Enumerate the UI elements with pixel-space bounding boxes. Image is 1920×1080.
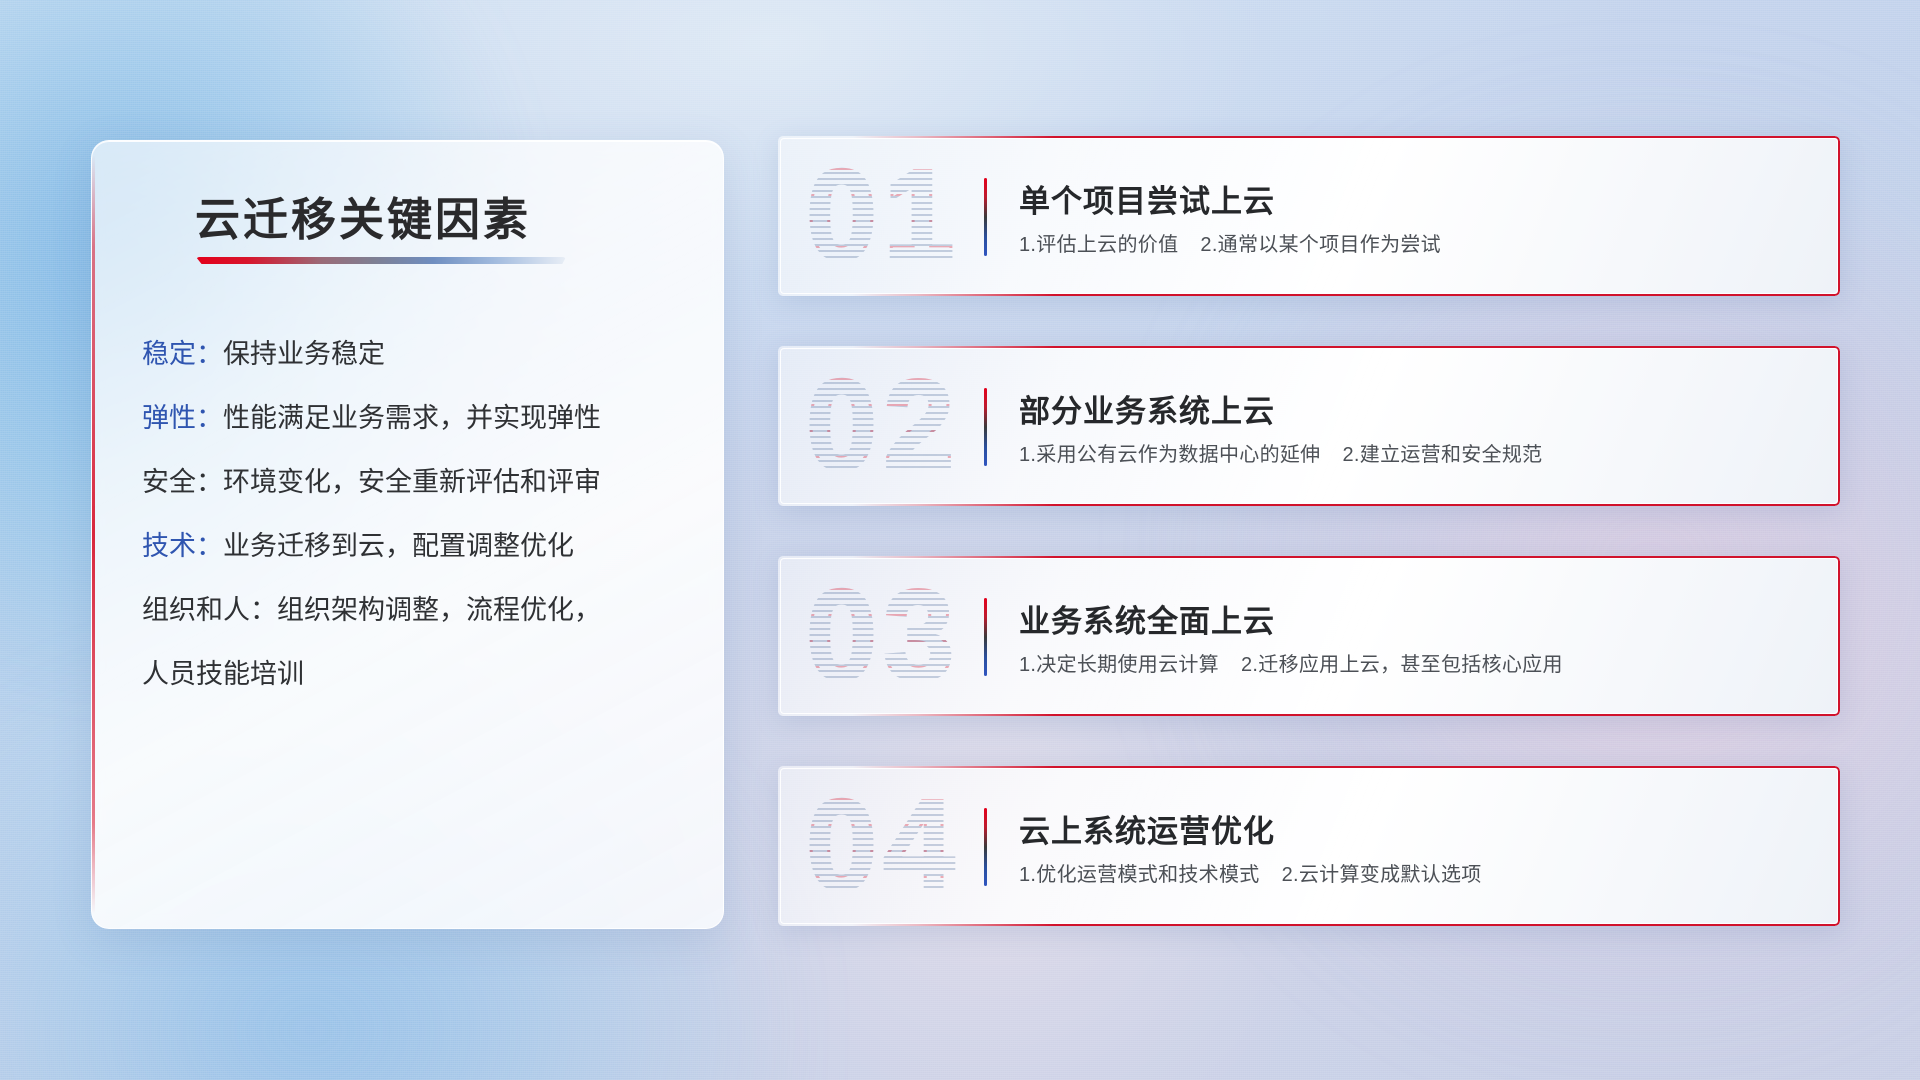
factor-value: 人员技能培训 xyxy=(142,659,304,689)
title-underline-gradient xyxy=(196,257,566,264)
factor-list: 稳定：保持业务稳定 弹性：性能满足业务需求，并实现弹性 安全：环境变化，安全重新… xyxy=(142,341,699,725)
stage-number-watermark-accent: 03 xyxy=(806,556,1036,716)
stage-points: 1.采用公有云作为数据中心的延伸2.建立运营和安全规范 xyxy=(1019,438,1542,467)
stage-points: 1.评估上云的价值2.通常以某个项目作为尝试 xyxy=(1019,228,1441,257)
page-title: 云迁移关键因素 xyxy=(195,183,531,248)
factor-value: 组织架构调整，流程优化， xyxy=(277,595,601,625)
factor-label: 稳定： xyxy=(142,339,223,369)
stage-point-1: 1.采用公有云作为数据中心的延伸 xyxy=(1019,444,1320,466)
stage-accent-bar xyxy=(984,178,987,256)
factor-value: 业务迁移到云，配置调整优化 xyxy=(223,531,574,561)
stage-point-1: 1.评估上云的价值 xyxy=(1019,234,1178,256)
factor-item: 技术：业务迁移到云，配置调整优化 xyxy=(142,533,699,560)
stage-point-2: 2.云计算变成默认选项 xyxy=(1282,864,1482,886)
stage-points: 1.优化运营模式和技术模式2.云计算变成默认选项 xyxy=(1019,858,1482,887)
stage-card[interactable]: 03 03 业务系统全面上云 1.决定长期使用云计算2.迁移应用上云，甚至包括核… xyxy=(778,556,1840,716)
stage-title: 业务系统全面上云 xyxy=(1019,596,1275,641)
factor-item: 稳定：保持业务稳定 xyxy=(142,341,699,368)
stage-number-watermark-accent: 01 xyxy=(806,136,1036,296)
stage-points: 1.决定长期使用云计算2.迁移应用上云，甚至包括核心应用 xyxy=(1019,648,1563,677)
key-factors-panel: 云迁移关键因素 稳定：保持业务稳定 弹性：性能满足业务需求，并实现弹性 安全：环… xyxy=(91,140,724,929)
stage-point-1: 1.决定长期使用云计算 xyxy=(1019,654,1219,676)
stage-accent-bar xyxy=(984,808,987,886)
stage-number-watermark-accent: 02 xyxy=(806,346,1036,506)
factor-label: 安全： xyxy=(142,467,223,497)
factor-item: 弹性：性能满足业务需求，并实现弹性 xyxy=(142,405,699,432)
stage-card[interactable]: 01 01 单个项目尝试上云 1.评估上云的价值2.通常以某个项目作为尝试 xyxy=(778,136,1840,296)
stage-title: 云上系统运营优化 xyxy=(1019,806,1275,851)
stage-point-2: 2.迁移应用上云，甚至包括核心应用 xyxy=(1241,654,1563,676)
stage-accent-bar xyxy=(984,388,987,466)
stage-title: 单个项目尝试上云 xyxy=(1019,176,1275,221)
factor-label: 组织和人： xyxy=(142,595,277,625)
factor-value: 环境变化，安全重新评估和评审 xyxy=(223,467,601,497)
factor-label: 弹性： xyxy=(142,403,223,433)
stage-card[interactable]: 02 02 部分业务系统上云 1.采用公有云作为数据中心的延伸2.建立运营和安全… xyxy=(778,346,1840,506)
stage-point-1: 1.优化运营模式和技术模式 xyxy=(1019,864,1260,886)
stage-title: 部分业务系统上云 xyxy=(1019,386,1275,431)
stage-card-list: 01 01 单个项目尝试上云 1.评估上云的价值2.通常以某个项目作为尝试 02… xyxy=(778,136,1840,976)
factor-item: 安全：环境变化，安全重新评估和评审 xyxy=(142,469,699,496)
stage-point-2: 2.通常以某个项目作为尝试 xyxy=(1200,234,1441,256)
stage-number-watermark-accent: 04 xyxy=(806,766,1036,926)
factor-value: 性能满足业务需求，并实现弹性 xyxy=(223,403,601,433)
factor-item: 组织和人：组织架构调整，流程优化， xyxy=(142,597,699,624)
stage-accent-bar xyxy=(984,598,987,676)
panel-left-accent-edge xyxy=(92,155,95,914)
factor-label: 技术： xyxy=(142,531,223,561)
stage-point-2: 2.建立运营和安全规范 xyxy=(1342,444,1542,466)
factor-item-continuation: 人员技能培训 xyxy=(142,661,699,688)
stage-card[interactable]: 04 04 云上系统运营优化 1.优化运营模式和技术模式2.云计算变成默认选项 xyxy=(778,766,1840,926)
factor-value: 保持业务稳定 xyxy=(223,339,385,369)
